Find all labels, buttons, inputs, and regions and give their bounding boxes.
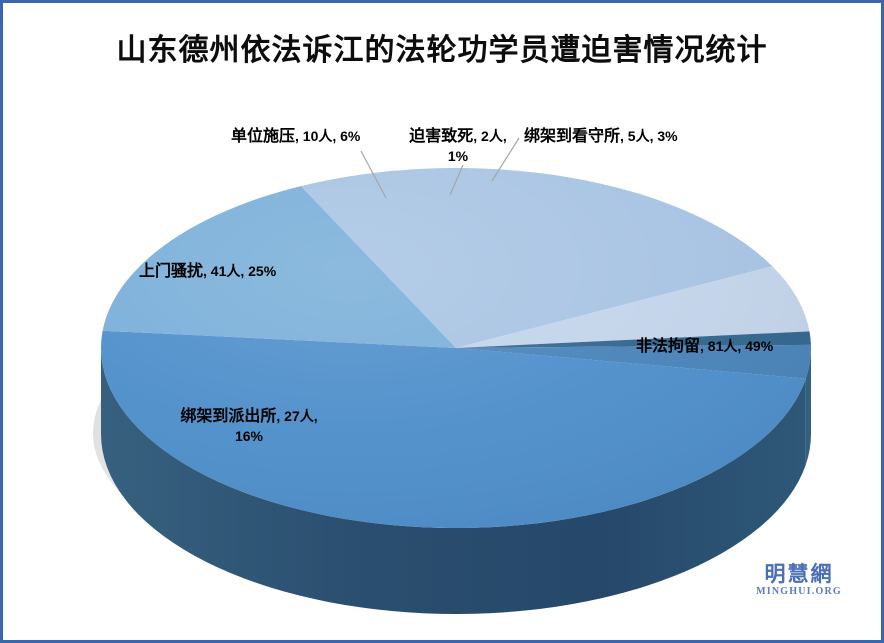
slice-label-harassment: 上门骚扰, 41人, 25% — [139, 261, 276, 281]
slice-label-police-station-category: 绑架到派出所 — [180, 406, 276, 425]
slice-label-death: 迫害致死, 2人, 1% — [404, 126, 512, 167]
chart-page: 山东德州依法诉江的法轮功学员遭迫害情况统计 — [0, 0, 884, 643]
slice-label-illegal-detention: 非法拘留, 81人, 49% — [636, 336, 773, 356]
slice-label-units-amount: , 10人, 6% — [295, 128, 360, 144]
slice-label-death-category: 迫害致死 — [409, 126, 473, 145]
slice-label-police-station: 绑架到派出所, 27人, 16% — [166, 406, 332, 447]
slice-label-illegal-detention-amount: , 81人, 49% — [700, 338, 773, 354]
slice-label-detention: 绑架到看守所, 5人, 3% — [524, 126, 678, 146]
slice-label-harassment-category: 上门骚扰 — [139, 261, 203, 280]
slice-label-death-amount: , 2人, — [473, 128, 506, 144]
slice-label-death-percent: 1% — [448, 148, 468, 164]
minghui-watermark: 明慧網 MINGHUI.ORG — [747, 563, 851, 597]
slice-label-police-station-amount: , 27人, — [276, 408, 317, 424]
slice-label-units-category: 单位施压 — [231, 126, 295, 145]
slice-label-units: 单位施压, 10人, 6% — [231, 126, 360, 146]
slice-label-detention-category: 绑架到看守所 — [524, 126, 620, 145]
slice-label-detention-amount: , 5人, 3% — [620, 128, 678, 144]
pie-chart-3d: 非法拘留, 81人, 49%绑架到派出所, 27人, 16%上门骚扰, 41人,… — [3, 3, 884, 643]
slice-label-harassment-amount: , 41人, 25% — [203, 263, 276, 279]
slice-label-illegal-detention-category: 非法拘留 — [636, 336, 700, 355]
watermark-chinese: 明慧網 — [747, 563, 851, 585]
slice-label-police-station-percent: 16% — [235, 428, 263, 444]
watermark-english: MINGHUI.ORG — [747, 586, 851, 597]
